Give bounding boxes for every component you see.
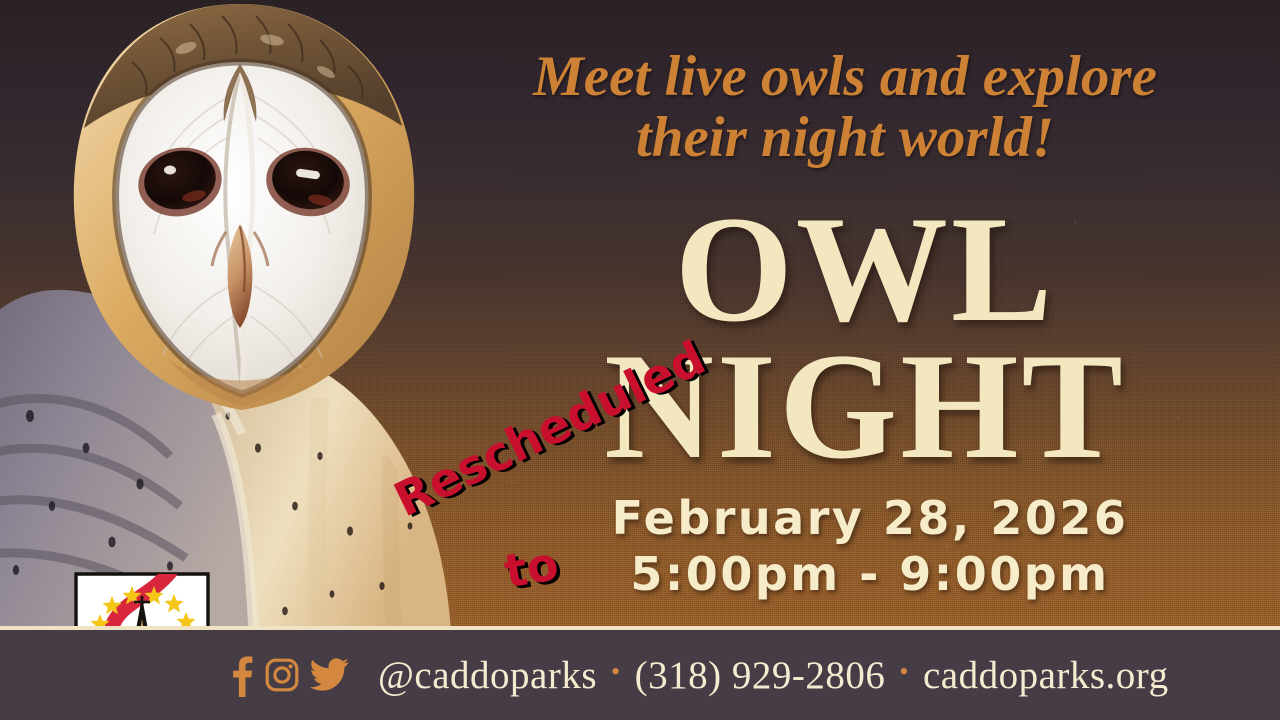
instagram-icon[interactable] (265, 658, 299, 692)
title-line-owl: OWL (470, 196, 1260, 343)
tagline-line-2: their night world! (440, 107, 1250, 168)
twitter-icon[interactable] (310, 658, 350, 692)
footer-contact-line: @caddoparks • (318) 929-2806 • caddopark… (378, 653, 1169, 698)
event-time: 5:00pm - 9:00pm (560, 546, 1180, 602)
footer-separator-2: • (899, 659, 909, 685)
phone-number[interactable]: (318) 929-2806 (635, 653, 886, 698)
tagline-line-1: Meet live owls and explore (440, 46, 1250, 107)
tagline: Meet live owls and explore their night w… (440, 46, 1250, 168)
social-handle[interactable]: @caddoparks (378, 653, 597, 698)
facebook-icon[interactable] (228, 653, 254, 697)
event-datetime: February 28, 2026 5:00pm - 9:00pm (560, 490, 1180, 602)
event-title: OWL NIGHT (470, 196, 1260, 481)
owl-night-flyer: Meet live owls and explore their night w… (0, 0, 1280, 720)
event-date: February 28, 2026 (560, 490, 1180, 546)
website-url[interactable]: caddoparks.org (923, 653, 1169, 698)
footer-content: @caddoparks • (318) 929-2806 • caddopark… (228, 630, 1169, 720)
social-icons (228, 653, 350, 697)
title-line-night: NIGHT (470, 333, 1260, 480)
footer-separator-1: • (611, 659, 621, 685)
